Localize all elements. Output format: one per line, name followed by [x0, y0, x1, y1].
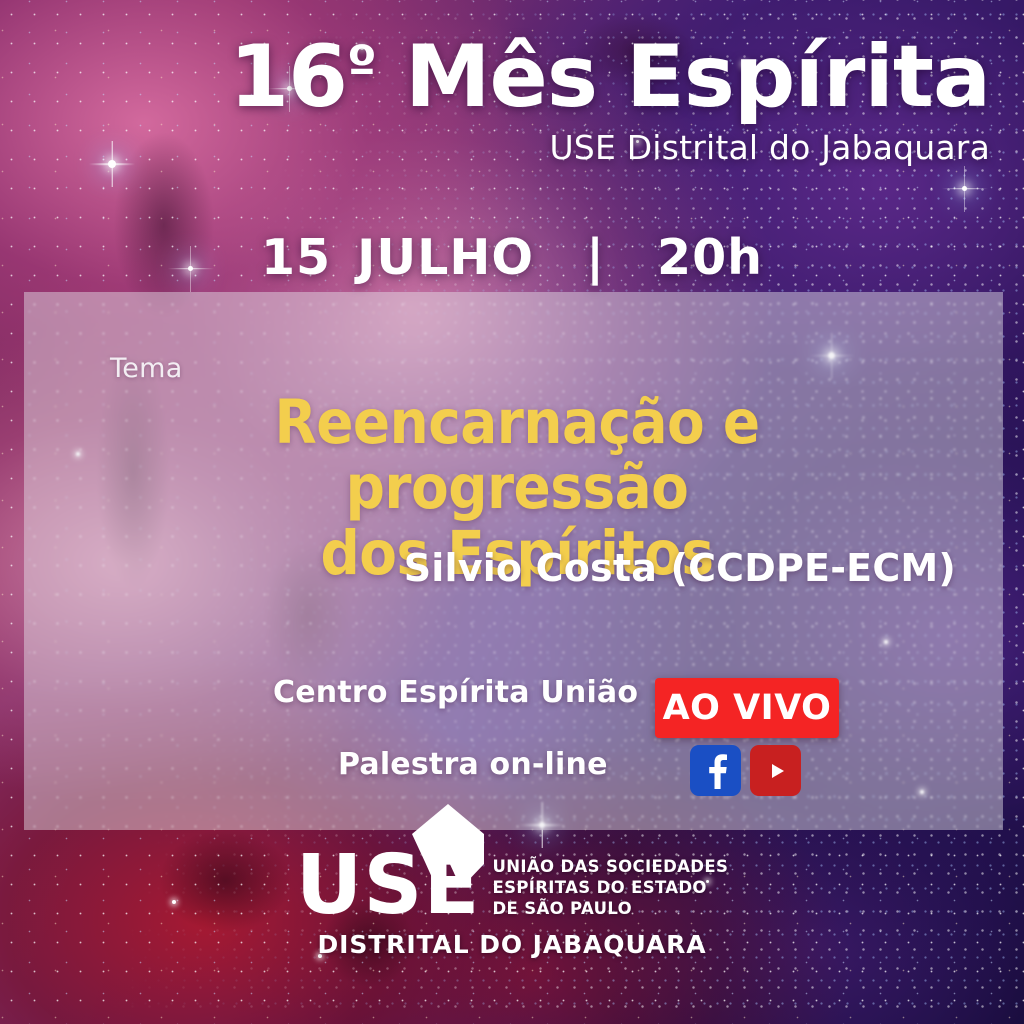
- title-rest: Mês Espírita: [376, 27, 990, 127]
- event-time: 20h: [657, 229, 763, 286]
- youtube-icon[interactable]: [750, 745, 801, 796]
- event-mode: Palestra on-line: [338, 747, 608, 782]
- event-month: JULHO: [357, 229, 534, 286]
- speaker-name: Silvio Costa (CCDPE-ECM): [404, 546, 956, 590]
- live-badge-label: AO VIVO: [663, 691, 832, 726]
- theme-title-line-1: Reencarnação e progressão: [274, 387, 759, 523]
- event-dateline: 15JULHO|20h: [0, 229, 1024, 286]
- poster-header: 16º Mês Espírita USE Distrital do Jabaqu…: [0, 34, 990, 167]
- use-description-line-2: ESPÍRITAS DO ESTADO: [492, 878, 728, 899]
- page-title: 16º Mês Espírita: [0, 34, 990, 122]
- dateline-separator: |: [586, 229, 605, 286]
- event-poster: 16º Mês Espírita USE Distrital do Jabaqu…: [0, 0, 1024, 1024]
- use-description: UNIÃO DAS SOCIEDADES ESPÍRITAS DO ESTADO…: [492, 857, 728, 919]
- event-day: 15: [261, 229, 331, 286]
- use-district: DISTRITAL DO JABAQUARA: [317, 930, 706, 959]
- page-subtitle: USE Distrital do Jabaquara: [0, 128, 990, 167]
- use-logo-row: USE UNIÃO DAS SOCIEDADES ESPÍRITAS DO ES…: [296, 848, 728, 923]
- use-description-line-1: UNIÃO DAS SOCIEDADES: [492, 857, 728, 878]
- theme-label: Tema: [110, 353, 183, 384]
- use-arrow-icon: [412, 804, 484, 888]
- use-logo: USE UNIÃO DAS SOCIEDADES ESPÍRITAS DO ES…: [0, 848, 1024, 959]
- use-description-line-3: DE SÃO PAULO: [492, 899, 728, 920]
- social-links: [690, 745, 801, 796]
- facebook-icon[interactable]: [690, 745, 741, 796]
- live-badge: AO VIVO: [655, 678, 839, 738]
- title-ordinal-mark: º: [347, 35, 376, 97]
- venue-name: Centro Espírita União: [273, 675, 638, 710]
- title-number: 16: [229, 27, 347, 127]
